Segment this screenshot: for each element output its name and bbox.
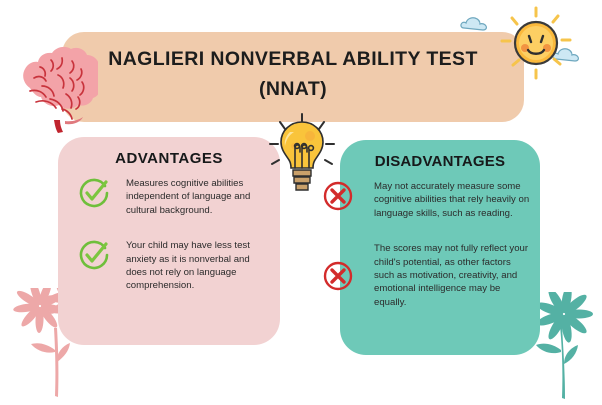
check-circle-icon <box>78 239 110 271</box>
cloud-icon-left <box>460 14 494 37</box>
lightbulb-icon <box>266 112 338 203</box>
list-item-text: The scores may not fully reflect your ch… <box>374 242 530 309</box>
title-line-2: (NNAT) <box>62 74 524 104</box>
advantages-list: Measures cognitive abilities independent… <box>58 177 280 307</box>
title-line-1: NAGLIERI NONVERBAL ABILITY TEST <box>108 48 478 70</box>
disadvantages-list: May not accurately measure some cognitiv… <box>340 180 540 323</box>
list-item: Measures cognitive abilities independent… <box>58 177 280 217</box>
list-item: Your child may have less test anxiety as… <box>58 239 280 293</box>
advantages-heading: ADVANTAGES <box>58 150 280 167</box>
advantages-card: ADVANTAGES Measures cognitive abilities … <box>58 137 280 345</box>
check-circle-icon <box>78 177 110 209</box>
list-item-text: Your child may have less test anxiety as… <box>126 239 268 293</box>
list-item: May not accurately measure some cognitiv… <box>340 180 540 220</box>
disadvantages-card: DISADVANTAGES May not accurately measure… <box>340 140 540 355</box>
list-item: The scores may not fully reflect your ch… <box>340 242 540 309</box>
disadvantages-heading: DISADVANTAGES <box>340 153 540 170</box>
list-item-text: May not accurately measure some cognitiv… <box>374 180 530 220</box>
infographic-canvas: NAGLIERI NONVERBAL ABILITY TEST (NNAT) <box>0 0 602 401</box>
list-item-text: Measures cognitive abilities independent… <box>126 177 268 217</box>
page-title: NAGLIERI NONVERBAL ABILITY TEST (NNAT) <box>62 44 524 104</box>
cross-circle-icon <box>322 260 354 292</box>
